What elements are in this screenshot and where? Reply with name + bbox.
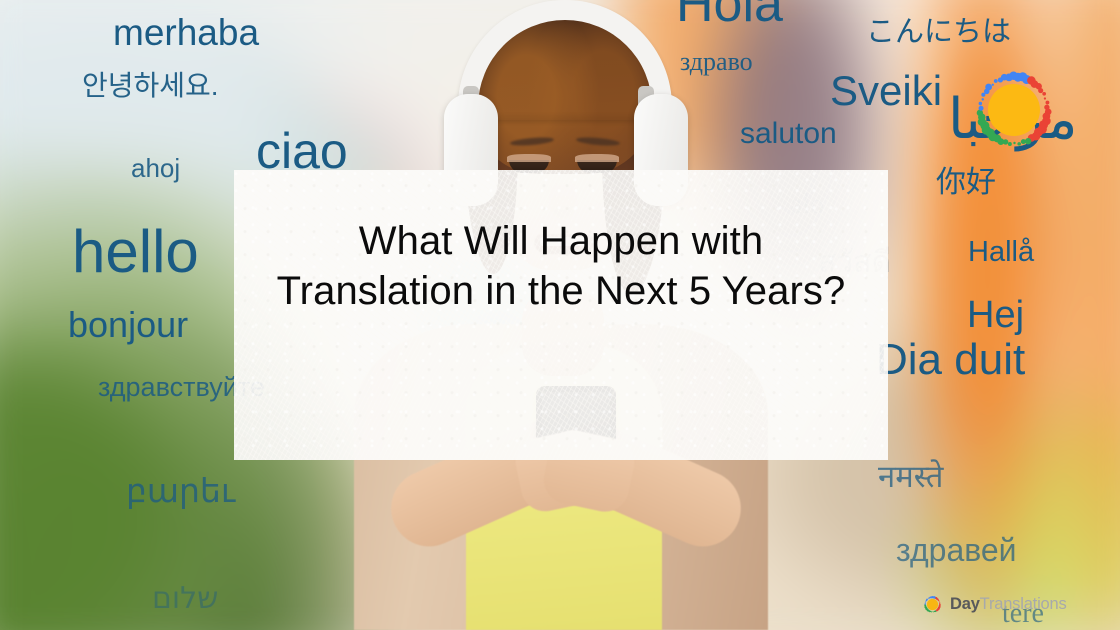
greeting-word: bonjour [68,307,188,343]
greeting-word: 안녕하세요. [82,72,219,100]
greeting-word: こんにちは [866,18,1011,47]
brand-logo-text: DayTranslations [950,595,1067,614]
eyelid-right [575,154,619,162]
greeting-word: merhaba [113,14,259,51]
brand-name-primary: Day [950,595,980,613]
brand-name-secondary: Translations [980,595,1067,613]
sun-icon [922,594,943,615]
promo-banner: merhaba안녕하세요.ahojciaohellobonjourздравст… [0,0,1120,630]
page-title: What Will Happen with Translation in the… [268,216,854,317]
greeting-word: नमस्ते [878,462,943,493]
greeting-word: բարեւ [126,474,235,507]
greeting-word: saluton [740,119,837,149]
greeting-word: Hola [676,0,783,30]
greeting-word: שלום [152,584,218,614]
brand-logo[interactable]: DayTranslations [922,594,1067,615]
eyelid-left [507,154,551,162]
greeting-word: здраво [680,49,753,75]
greeting-word: Dia duit [876,338,1025,382]
sun-dots-icon [958,60,1070,168]
greeting-word: Hej [967,296,1024,334]
greeting-word: Hallå [968,238,1034,267]
greeting-word: ciao [256,126,348,176]
greeting-word: Sveiki [830,70,942,112]
greeting-word: здравей [896,534,1017,566]
greeting-word: hello [72,222,199,282]
greeting-word: ahoj [131,155,180,181]
headline-overlay-panel: What Will Happen with Translation in the… [234,170,888,460]
greeting-word: 你好 [936,168,996,198]
